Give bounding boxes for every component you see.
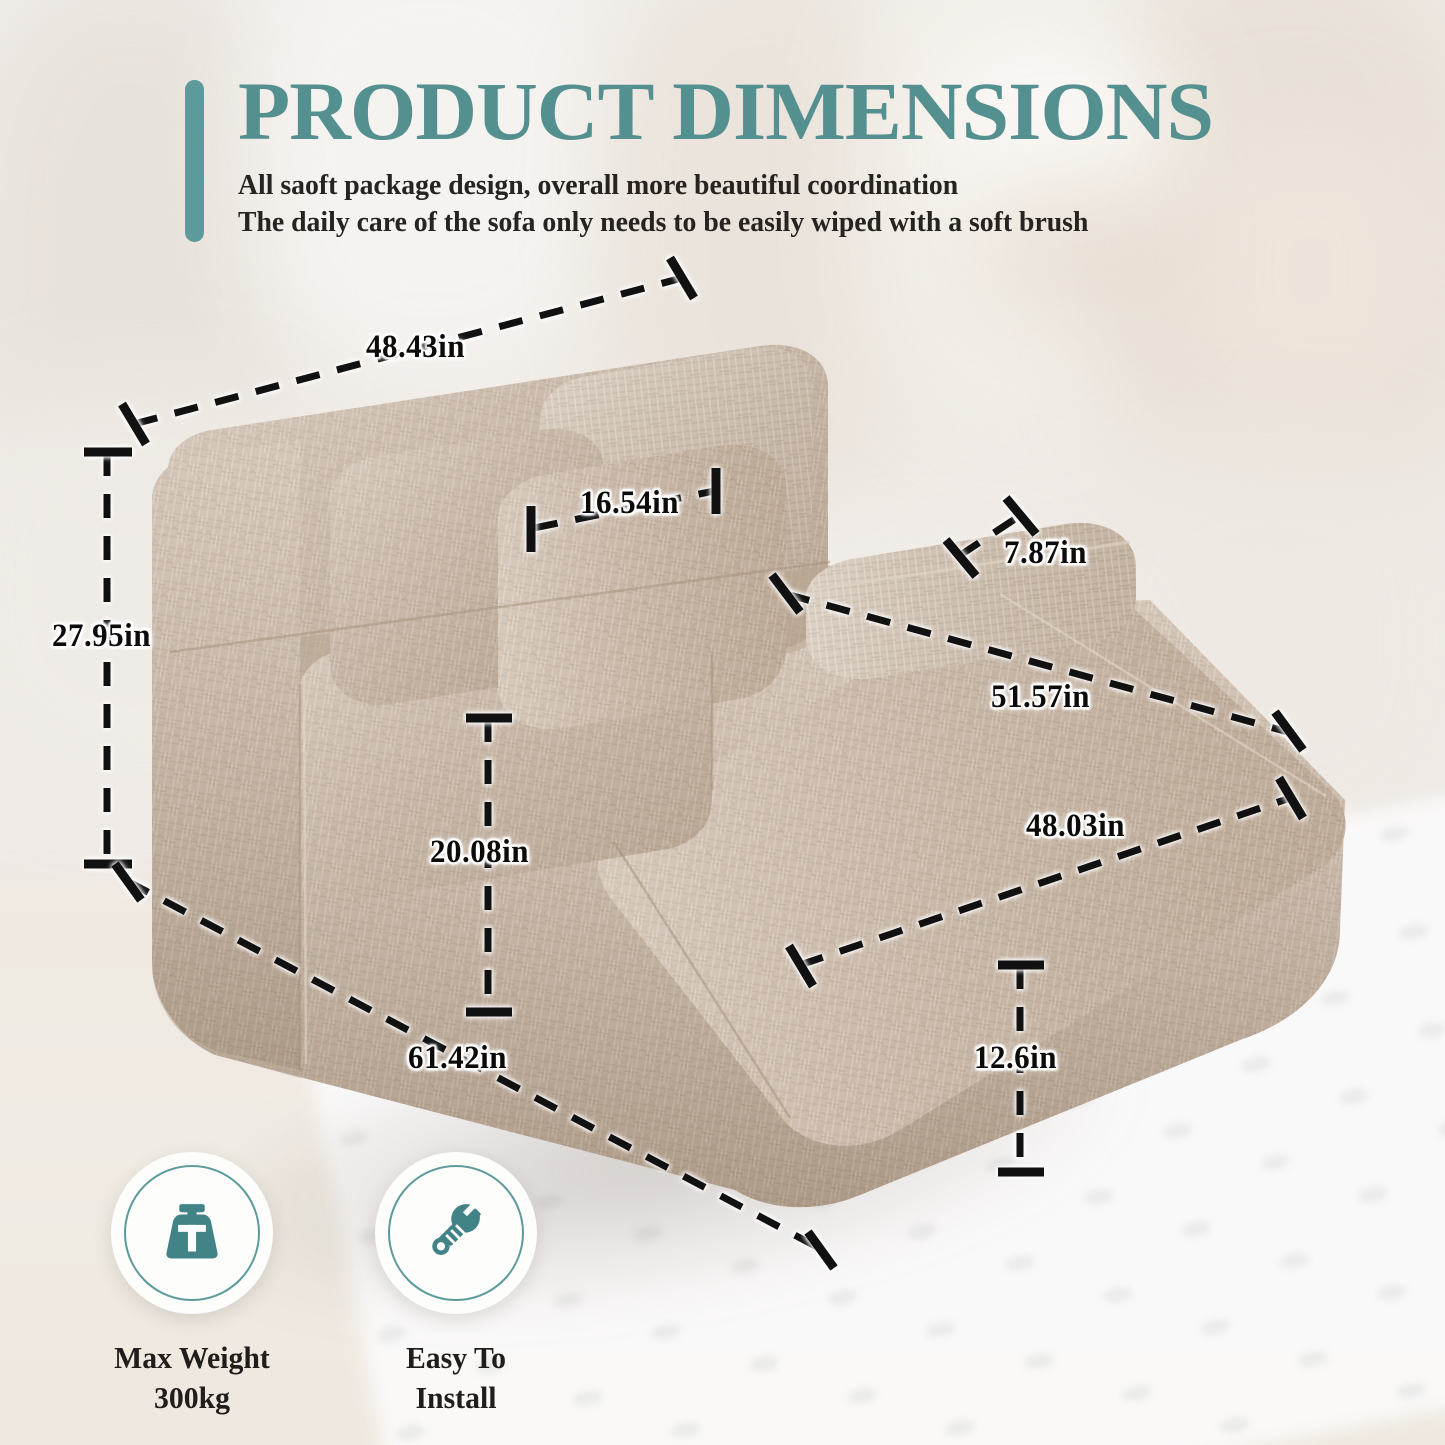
- dimension-label-armrest-width: 7.87in: [1004, 535, 1087, 572]
- feature-label-max-weight: Max Weight 300kg: [58, 1338, 327, 1417]
- feature-label-easy-install: Easy To Install: [322, 1338, 591, 1417]
- infographic-canvas: PRODUCT DIMENSIONS All saoft package des…: [0, 0, 1445, 1445]
- feature-badge-easy-install: [375, 1152, 537, 1314]
- dimension-label-base-height: 12.6in: [974, 1040, 1057, 1077]
- feature-label-max-weight-line1: Max Weight: [58, 1338, 327, 1378]
- dimension-label-overall-length: 61.42in: [408, 1040, 507, 1077]
- weight-icon: [155, 1196, 229, 1270]
- dimension-label-pillow-width: 16.54in: [580, 485, 679, 522]
- dimension-label-seat-height: 20.08in: [430, 834, 529, 871]
- feature-label-easy-install-line2: Install: [322, 1378, 591, 1418]
- feature-label-max-weight-line2: 300kg: [58, 1378, 327, 1418]
- dimension-label-overall-height: 27.95in: [52, 618, 151, 655]
- dimension-label-seat-width: 48.03in: [1026, 808, 1125, 845]
- dimension-label-seat-depth: 51.57in: [991, 679, 1090, 716]
- feature-badge-max-weight: [111, 1152, 273, 1314]
- feature-label-easy-install-line1: Easy To: [322, 1338, 591, 1378]
- dimension-label-backrest-width: 48.43in: [366, 329, 465, 366]
- tools-icon: [419, 1196, 493, 1270]
